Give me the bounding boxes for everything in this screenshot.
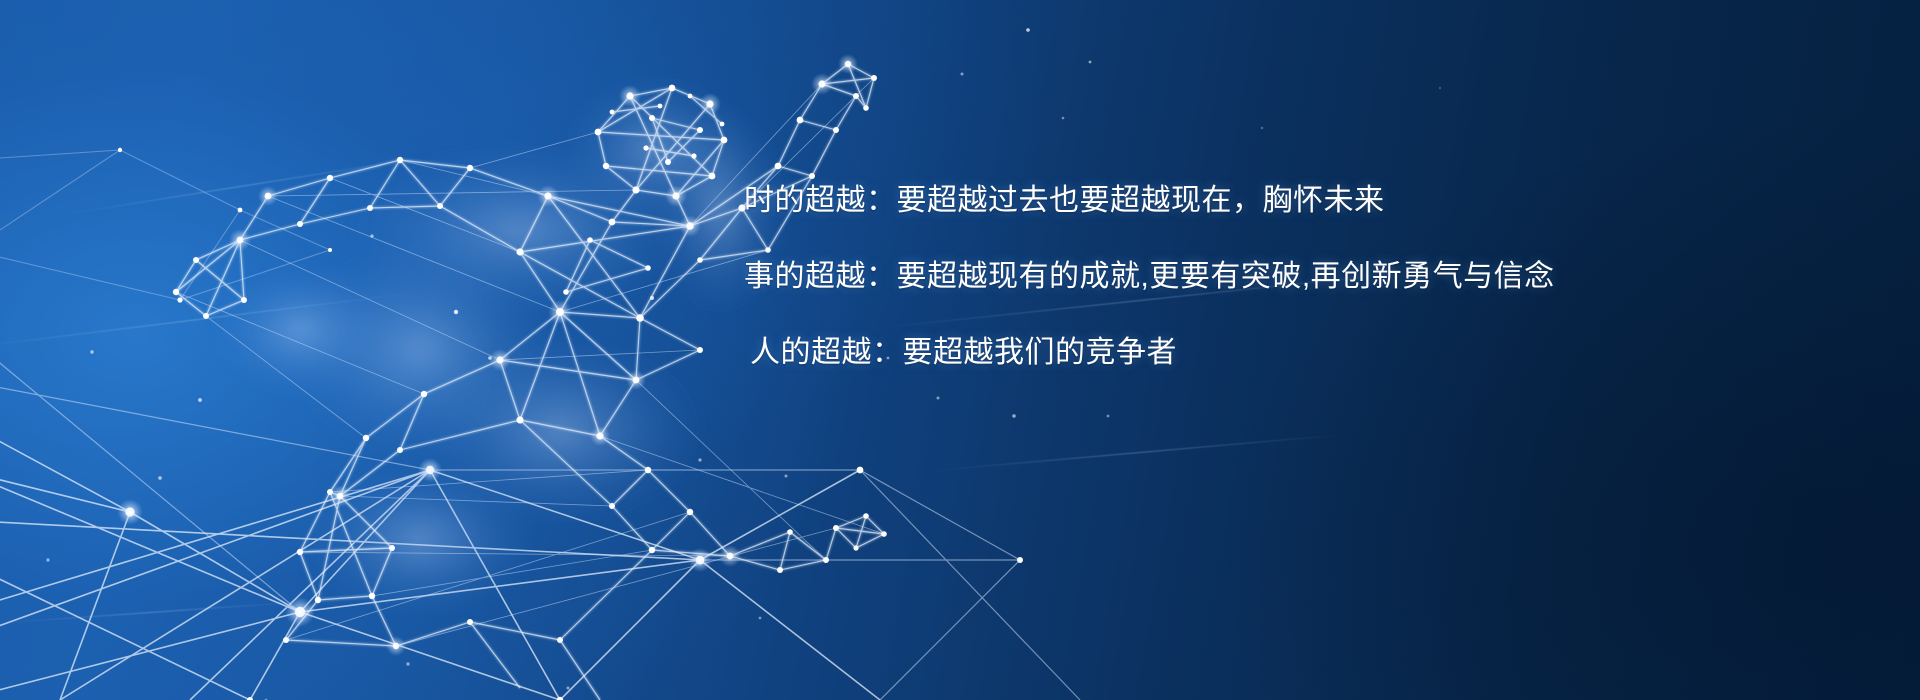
slogan-line-matter: 事的超越：要超越现有的成就,更要有突破,再创新勇气与信念 [744,262,1504,292]
slogan-block: 时的超越：要超越过去也要超越现在，胸怀未来 事的超越：要超越现有的成就,更要有突… [744,186,1504,368]
hero-banner: 时的超越：要超越过去也要超越现在，胸怀未来 事的超越：要超越现有的成就,更要有突… [0,0,1920,700]
slogan-line-time: 时的超越：要超越过去也要超越现在，胸怀未来 [744,186,1504,216]
slogan-line-people: 人的超越：要超越我们的竞争者 [750,338,1504,368]
